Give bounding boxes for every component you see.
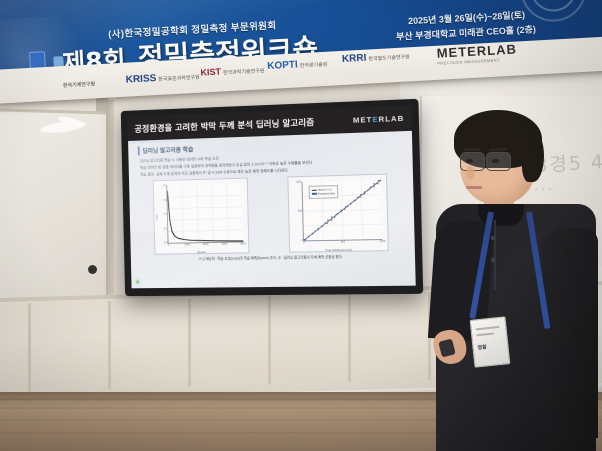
chart-loss-xlabel: Epoch	[155, 250, 248, 255]
display-screen[interactable]: 공정환경을 고려한 박막 두께 분석 딥러닝 알고리즘 METERLAB 딥러닝…	[128, 105, 416, 288]
chart-loss-xtick: 8000	[240, 243, 246, 246]
presenter-button	[491, 236, 495, 240]
sponsor-logo-2-sub: 한국과학기술연구원	[223, 68, 265, 76]
presenter-collar	[478, 204, 524, 226]
whiteboard-panel-left	[0, 108, 113, 309]
chart-loss-ytick: 0.6	[163, 199, 167, 202]
chart-linearity: Predicted thickness (nm) True thickness …	[287, 174, 389, 253]
presenter-eye-right	[492, 159, 499, 163]
chart-linearity-xtick: 1000	[379, 240, 385, 243]
sponsor-logo-1-name: KRISS	[125, 73, 156, 86]
chart-loss-plot-area: 0.00.20.40.60.802000400060008000	[166, 184, 243, 244]
badge-name-text: 명찰	[477, 343, 487, 351]
badge-line	[476, 333, 494, 337]
presenter: 명찰	[430, 108, 602, 451]
chart-loss-curve: Loss Epoch 0.00.20.40.60.802000400060008…	[153, 178, 250, 255]
slide-charts: Loss Epoch 0.00.20.40.60.802000400060008…	[137, 174, 407, 256]
sponsor-logo-4-sub: 한국철도기술연구원	[368, 54, 410, 62]
badge-line	[476, 326, 500, 330]
presenter-placket	[494, 220, 496, 290]
sponsor-logo-1-sub: 한국표준과학연구원	[158, 75, 200, 83]
chart-loss-ytick: 0.4	[163, 213, 167, 216]
chart-linearity-legend: Ideal (y = x)Predicted data	[309, 186, 338, 200]
chart-linearity-xtick: 0	[303, 242, 305, 245]
presenter-mouth	[466, 186, 482, 189]
chart-loss-xtick: 0	[168, 244, 169, 247]
sponsor-logo-3-name: KOPTI	[267, 59, 298, 72]
power-indicator-icon	[136, 280, 139, 283]
presenter-button	[491, 258, 495, 262]
chart-linearity-legend-label: Ideal (y = x)	[318, 188, 332, 191]
glasses-bridge	[483, 158, 488, 159]
sponsor-logo-1: KRISS한국표준과학연구원	[125, 71, 199, 86]
chart-loss-xtick: 4000	[203, 244, 209, 247]
sponsor-logo-2-name: KIST	[200, 67, 221, 78]
chart-linearity-plot-area: Ideal (y = x)Predicted data 050010000500…	[302, 180, 383, 242]
chart-loss-ylabel: Loss	[155, 215, 159, 221]
presenter-eye-left	[466, 159, 473, 163]
sponsor-logo-3-sub: 한국광기술원	[300, 62, 328, 69]
chart-loss-svg	[167, 184, 243, 243]
wall-knob	[88, 265, 97, 274]
sponsor-logo-0: 한국기계연구원	[63, 80, 96, 89]
wall-seam	[106, 100, 114, 312]
presenter-eyebrow-left	[463, 148, 481, 151]
wainscot-divider	[348, 294, 351, 382]
slide-title: 공정환경을 고려한 박막 두께 분석 딥러닝 알고리즘	[134, 116, 314, 135]
slide-brand-logo: METERLAB	[353, 114, 404, 125]
sponsor-logo-5: METERLAB PRECISION MEASUREMENT	[436, 41, 517, 65]
sponsor-logo-3: KOPTI한국광기술원	[267, 58, 328, 72]
chart-linearity-ytick: 1000	[296, 181, 302, 184]
presenter-arm-right	[542, 228, 598, 438]
chart-linearity-legend-item: Predicted data	[312, 192, 335, 197]
sponsor-logo-2: KIST한국과학기술연구원	[200, 64, 264, 77]
wainscot-divider	[28, 303, 31, 391]
wall-display[interactable]: 공정환경을 고려한 박막 두께 분석 딥러닝 알고리즘 METERLAB 딥러닝…	[121, 99, 423, 296]
slide-body: 딥러닝 알고리즘 학습 딥러닝 알고리즘 학습 시 사용된 데이터 수와 학습 …	[128, 131, 416, 288]
chart-linearity-xlabel: True thickness (nm)	[290, 248, 388, 254]
chart-linearity-xtick: 500	[341, 241, 345, 244]
name-badge: 명찰	[470, 316, 511, 368]
chart-linearity-legend-label: Predicted data	[318, 192, 335, 195]
wainscot-divider	[268, 296, 271, 384]
chart-loss-ytick: 0.8	[163, 185, 167, 188]
presenter-hair-side	[522, 130, 544, 182]
chart-loss-ytick: 0.2	[164, 228, 168, 231]
chart-linearity-ytick: 500	[298, 210, 302, 213]
sponsor-logo-0-name: 한국기계연구원	[63, 81, 95, 89]
presenter-nose	[466, 166, 475, 180]
presenter-hair-fringe	[456, 120, 502, 146]
wainscot-divider	[188, 299, 191, 387]
wainscot-divider	[108, 301, 111, 389]
conference-photo-scene: LD 8경5 4 H .... (사)한국정밀공학회 정밀측정 부문위원회	[0, 0, 602, 451]
sponsor-logo-4: KRRI한국철도기술연구원	[342, 50, 410, 65]
chart-loss-xtick: 6000	[222, 243, 228, 246]
chart-loss-xtick: 2000	[184, 244, 190, 247]
sponsor-logo-4-name: KRRI	[342, 53, 367, 65]
